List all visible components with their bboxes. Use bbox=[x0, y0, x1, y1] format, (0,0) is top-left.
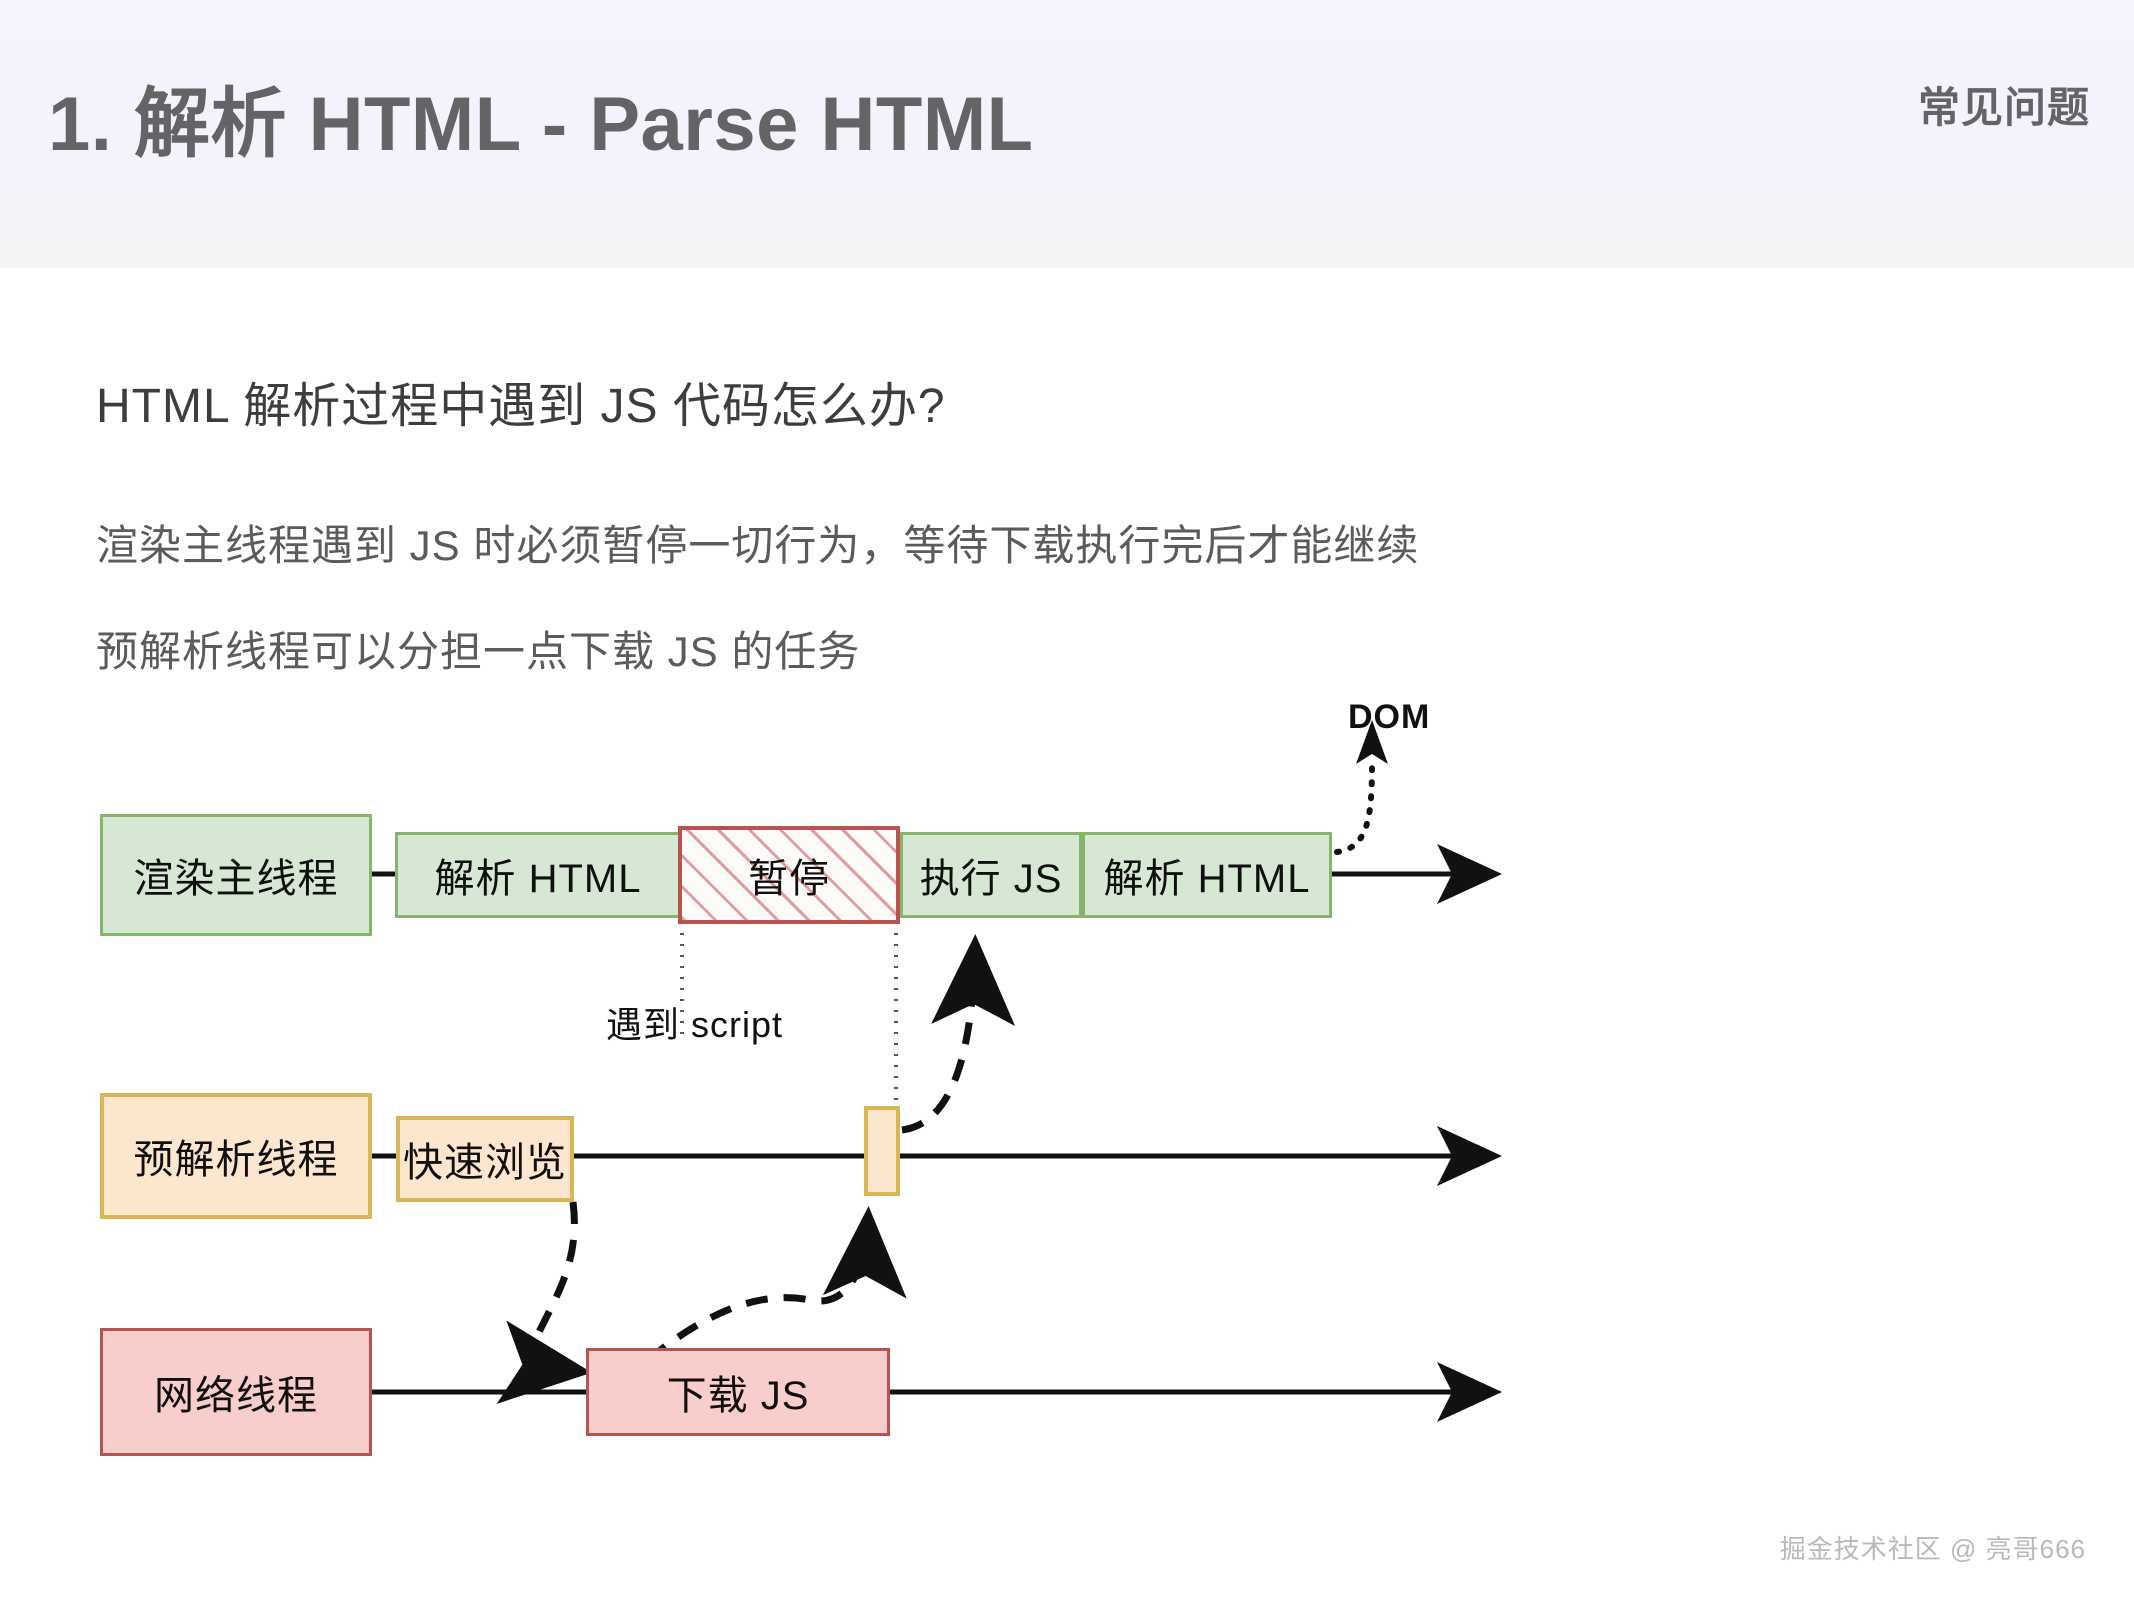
lane-label-text: 预解析线程 bbox=[134, 1127, 339, 1185]
segment-quick-scan: 快速浏览 bbox=[396, 1116, 574, 1202]
segment-label: 暂停 bbox=[748, 846, 830, 904]
segment-execute-js: 执行 JS bbox=[900, 832, 1082, 918]
meet-script-label: 遇到 script bbox=[606, 996, 783, 1048]
segment-label: 下载 JS bbox=[667, 1363, 810, 1421]
segment-download-js: 下载 JS bbox=[586, 1348, 890, 1436]
lane-label-text: 渲染主线程 bbox=[134, 846, 339, 904]
segment-label: 快速浏览 bbox=[403, 1130, 567, 1188]
dom-output-label: DOM bbox=[1348, 698, 1430, 737]
segment-label: 解析 HTML bbox=[1104, 846, 1311, 904]
segment-parse-html-1: 解析 HTML bbox=[395, 832, 681, 918]
lane-label-preparse-thread: 预解析线程 bbox=[100, 1093, 372, 1219]
watermark-label: 掘金技术社区 @ 亮哥666 bbox=[1780, 1529, 2086, 1566]
preparse-to-execjs-arrow bbox=[902, 948, 975, 1130]
lane-label-render-main-thread: 渲染主线程 bbox=[100, 814, 372, 936]
thread-timeline-diagram: 渲染主线程 预解析线程 网络线程 解析 HTML 暂停 执行 JS 解析 HTM… bbox=[0, 0, 2134, 1600]
download-to-preparse-arrow bbox=[648, 1220, 868, 1360]
lane-label-network-thread: 网络线程 bbox=[100, 1328, 372, 1456]
lane-label-text: 网络线程 bbox=[154, 1363, 318, 1421]
segment-parse-html-2: 解析 HTML bbox=[1082, 832, 1332, 918]
segment-label: 执行 JS bbox=[920, 846, 1063, 904]
segment-pause: 暂停 bbox=[678, 826, 900, 924]
segment-preparse-tick bbox=[864, 1106, 900, 1196]
preparse-to-download-arrow bbox=[537, 1202, 578, 1371]
dom-dotted-curve bbox=[1337, 764, 1372, 852]
segment-label: 解析 HTML bbox=[435, 846, 642, 904]
